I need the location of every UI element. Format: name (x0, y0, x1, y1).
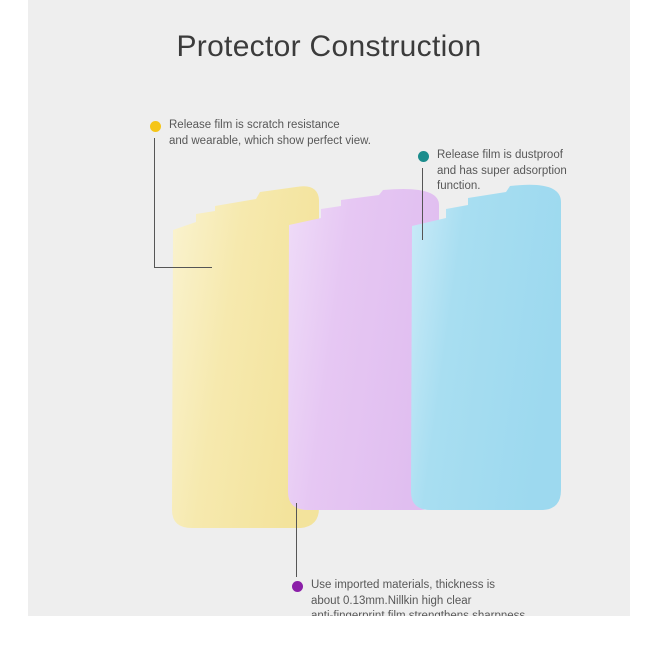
film-sheet-blue (406, 180, 566, 515)
purple-dot-marker-icon (292, 581, 303, 592)
leader-line-purple-vertical (296, 503, 297, 577)
leader-line-purple (296, 503, 297, 577)
leader-line-yellow (154, 138, 214, 268)
page-title: Protector Construction (28, 30, 630, 64)
callout-dustproof-text: Release film is dustproof and has super … (437, 148, 567, 195)
yellow-dot-marker-icon (150, 121, 161, 132)
leader-line-teal-vertical (422, 168, 423, 240)
leader-line-teal (422, 168, 423, 240)
callout-release-film-text: Release film is scratch resistance and w… (169, 118, 371, 149)
leader-line-yellow-horizontal (154, 267, 212, 268)
callout-materials-text: Use imported materials, thickness is abo… (311, 578, 528, 616)
leader-line-yellow-vertical (154, 138, 155, 268)
teal-dot-marker-icon (418, 151, 429, 162)
protector-construction-image: Protector Construction (0, 0, 660, 660)
content-panel: Protector Construction (28, 0, 630, 616)
